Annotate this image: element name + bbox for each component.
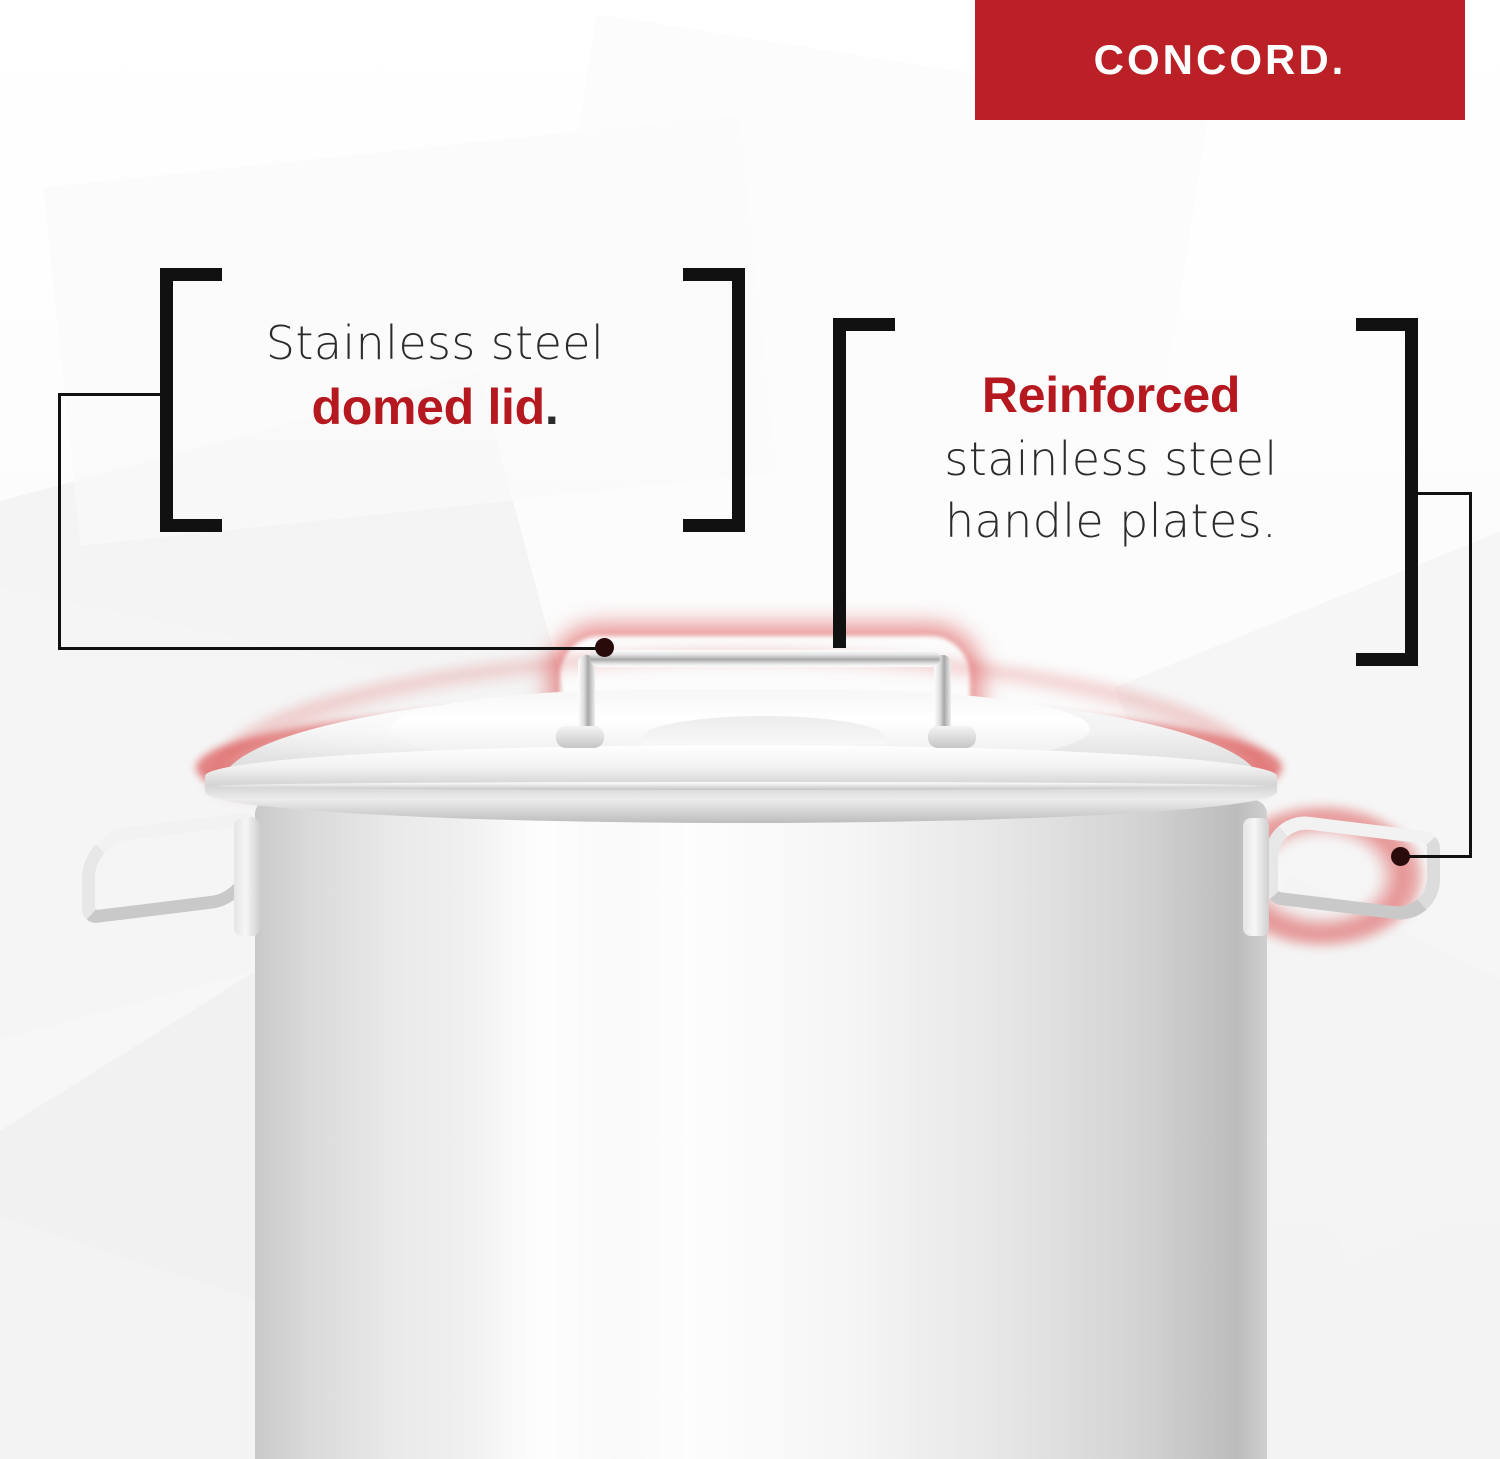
callout-anchor-dot-lid [595,638,614,657]
callout-bracket-right-close [1356,318,1418,666]
brand-banner: CONCORD. [975,0,1465,120]
callout-line-1: Reinforced [866,362,1356,428]
pot-body-highlight [470,800,620,1459]
bracket-arm-top [683,268,745,281]
lid-handle-foot-left [556,726,604,748]
callout-line-2: domed lid. [190,374,680,440]
callout-line-2-period: . [545,379,559,435]
bracket-stem [160,268,173,532]
bracket-stem [833,318,846,648]
callout-line-2-emphasis: domed lid [311,379,544,435]
callout-bracket-left-close [683,268,745,532]
stock-pot-illustration [0,0,1500,1459]
lid-handle-foot-right [928,726,976,748]
handle-plate [1243,818,1269,936]
bracket-arm-bottom [683,519,745,532]
bracket-arm-top [833,318,895,331]
leader-segment [58,393,61,650]
bracket-stem [1405,318,1418,666]
lid-rim-bead [216,782,1266,790]
leader-segment [58,647,605,650]
bracket-arm-top [160,268,222,281]
handle-loop [82,811,257,924]
product-feature-image: CONCORD. [0,0,1500,1459]
callout-text-domed-lid: Stainless steel domed lid. [190,312,680,440]
leader-segment [58,393,163,396]
brand-wordmark: CONCORD. [1094,36,1347,84]
bracket-stem [732,268,745,532]
handle-plate [234,818,260,936]
bracket-arm-bottom [1356,653,1418,666]
callout-anchor-dot-handle [1391,847,1410,866]
pot-body [255,800,1267,1459]
callout-line-3: handle plates. [866,490,1356,552]
bracket-arm-top [1356,318,1418,331]
bracket-arm-bottom [160,519,222,532]
leader-segment [1408,855,1472,858]
callout-line-1: Stainless steel [190,312,680,374]
callout-line-2: stainless steel [866,428,1356,490]
lid-handle-bar [590,650,940,667]
leader-segment [1415,492,1472,495]
leader-segment [1469,492,1472,858]
callout-text-handle-plates: Reinforced stainless steel handle plates… [866,362,1356,552]
